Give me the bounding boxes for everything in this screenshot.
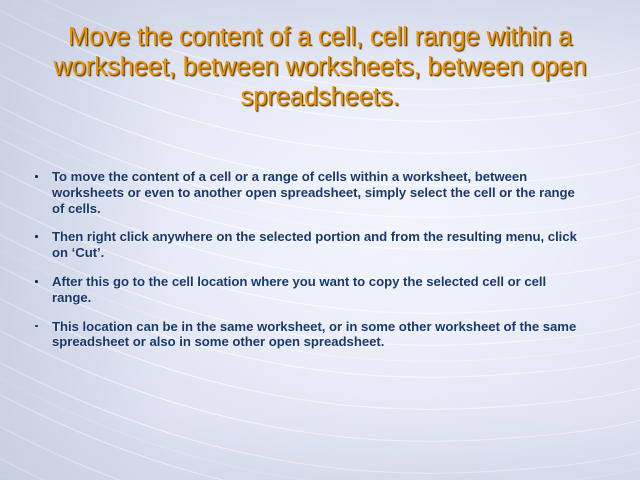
bullet-dot-icon xyxy=(35,280,38,283)
bullet-dot-icon xyxy=(35,235,38,238)
bullet-dot-icon xyxy=(35,325,38,328)
list-item: After this go to the cell location where… xyxy=(26,274,582,306)
bullet-text: This location can be in the same workshe… xyxy=(52,319,582,351)
bullet-text: Then right click anywhere on the selecte… xyxy=(52,229,582,261)
presentation-slide: Move the content of a cell, cell range w… xyxy=(0,0,640,480)
list-item: This location can be in the same workshe… xyxy=(26,319,582,351)
list-item: To move the content of a cell or a range… xyxy=(26,169,582,216)
list-item: Then right click anywhere on the selecte… xyxy=(26,229,582,261)
slide-content: Move the content of a cell, cell range w… xyxy=(0,0,640,480)
bullet-dot-icon xyxy=(35,175,38,178)
bullet-text: After this go to the cell location where… xyxy=(52,274,582,306)
bullet-text: To move the content of a cell or a range… xyxy=(52,169,582,216)
slide-title: Move the content of a cell, cell range w… xyxy=(34,22,606,112)
slide-bullet-list: To move the content of a cell or a range… xyxy=(26,169,582,350)
